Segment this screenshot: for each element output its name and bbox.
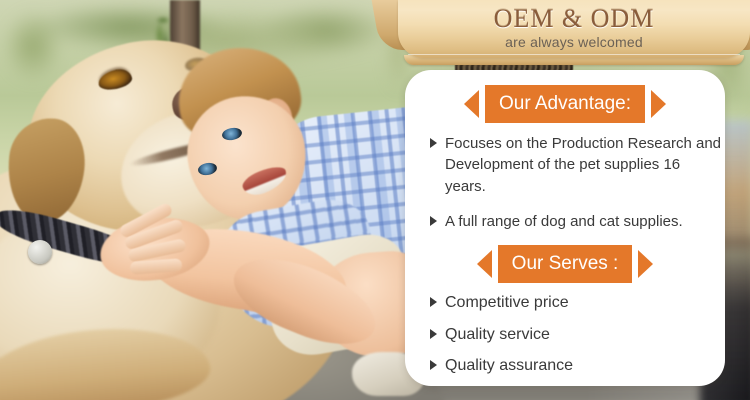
dog-id-tag bbox=[28, 240, 52, 264]
ribbon-our-advantage: Our Advantage: bbox=[405, 85, 725, 123]
promo-banner-root: OEM & ODM are always welcomed Our Advant… bbox=[0, 0, 750, 400]
list-item: Quality assurance bbox=[430, 355, 710, 378]
banner-face: OEM & ODM are always welcomed bbox=[398, 0, 750, 58]
ribbon-our-serves: Our Serves : bbox=[405, 245, 725, 283]
bullet-triangle-icon bbox=[430, 216, 437, 226]
arrow-right-icon bbox=[651, 90, 666, 118]
list-item-text: Quality service bbox=[445, 324, 710, 347]
list-item: A full range of dog and cat supplies. bbox=[430, 211, 722, 232]
list-item-text: A full range of dog and cat supplies. bbox=[445, 211, 722, 232]
bullet-triangle-icon bbox=[430, 138, 437, 148]
banner-subtitle: are always welcomed bbox=[398, 34, 750, 50]
ribbon-advantage-label: Our Advantage: bbox=[485, 85, 645, 123]
arrow-left-icon bbox=[464, 90, 479, 118]
gold-ribbon-banner: OEM & ODM are always welcomed bbox=[398, 0, 750, 70]
serves-bullet-list: Competitive price Quality service Qualit… bbox=[430, 292, 710, 378]
arrow-right-icon bbox=[638, 250, 653, 278]
list-item: Competitive price bbox=[430, 292, 710, 315]
advantage-bullet-list: Focuses on the Production Research and D… bbox=[430, 133, 722, 232]
bullet-triangle-icon bbox=[430, 360, 437, 370]
arrow-left-icon bbox=[477, 250, 492, 278]
bullet-triangle-icon bbox=[430, 297, 437, 307]
list-item-text: Focuses on the Production Research and D… bbox=[445, 133, 722, 197]
banner-title: OEM & ODM bbox=[398, 4, 750, 34]
bullet-triangle-icon bbox=[430, 329, 437, 339]
list-item-text: Quality assurance bbox=[445, 355, 710, 378]
list-item-text: Competitive price bbox=[445, 292, 710, 315]
list-item: Quality service bbox=[430, 324, 710, 347]
list-item: Focuses on the Production Research and D… bbox=[430, 133, 722, 197]
ribbon-serves-label: Our Serves : bbox=[498, 245, 633, 283]
